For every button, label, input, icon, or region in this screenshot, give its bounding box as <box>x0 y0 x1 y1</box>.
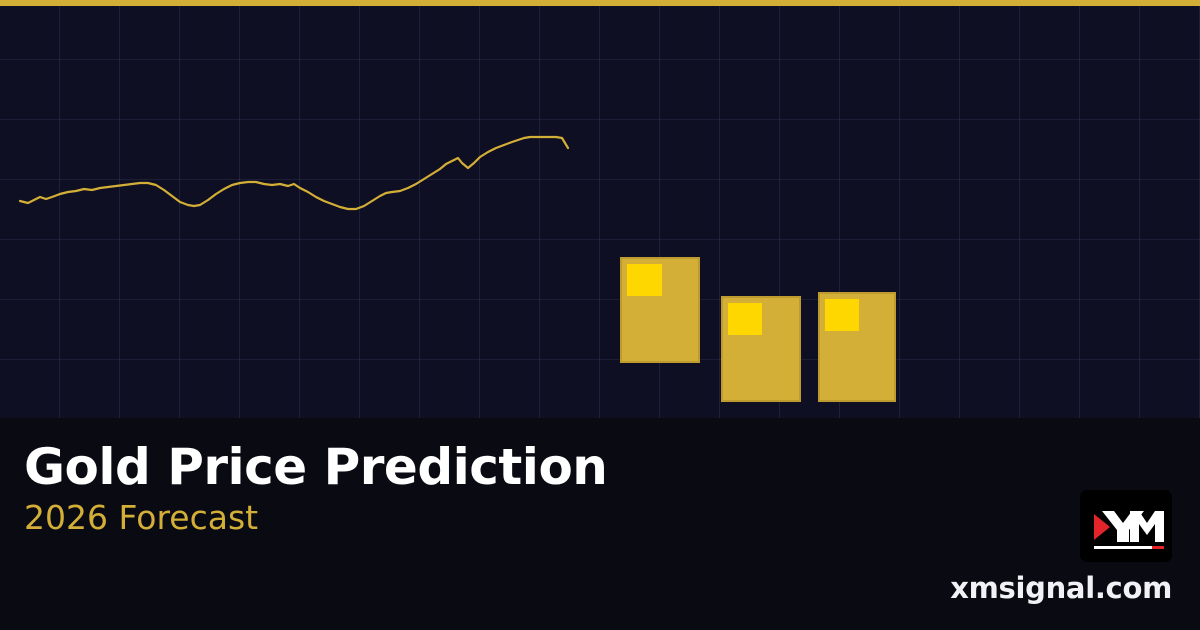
forecast-bar-3-highlight <box>825 299 859 331</box>
forecast-bar-2-highlight <box>728 303 762 335</box>
brand-block: xmsignal.com <box>912 490 1172 603</box>
xm-logo-mark <box>1080 490 1172 562</box>
chart-panel <box>0 0 1200 418</box>
xm-logo-icon <box>1080 490 1172 562</box>
page-subtitle: 2026 Forecast <box>24 500 924 536</box>
forecast-bar-1 <box>620 257 700 363</box>
top-accent-bar <box>0 0 1200 6</box>
social-card-canvas: Gold Price Prediction 2026 Forecast xmsi… <box>0 0 1200 630</box>
forecast-bar-3 <box>818 292 896 402</box>
headline-block: Gold Price Prediction 2026 Forecast <box>24 440 924 536</box>
price-line-path <box>20 137 568 209</box>
brand-domain-text: xmsignal.com <box>912 574 1172 603</box>
footer-panel: Gold Price Prediction 2026 Forecast xmsi… <box>0 418 1200 630</box>
forecast-bar-1-highlight <box>627 264 662 296</box>
page-title: Gold Price Prediction <box>24 440 924 494</box>
gold-price-line-chart <box>0 0 1200 418</box>
forecast-bar-2 <box>721 296 801 402</box>
